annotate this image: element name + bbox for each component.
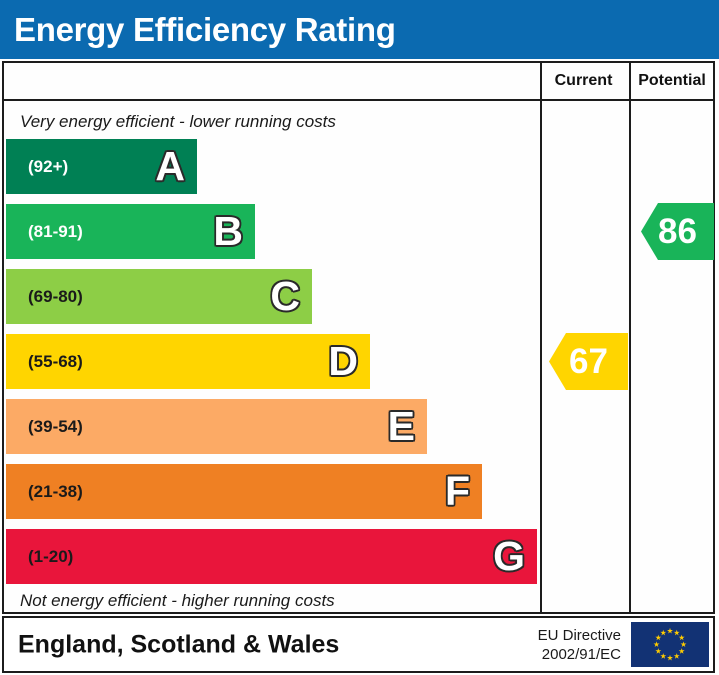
band-range-b: (81-91) (28, 222, 83, 242)
rating-marker-potential: 86 (641, 203, 714, 260)
column-header-current: Current (540, 63, 627, 99)
band-range-a: (92+) (28, 157, 68, 177)
band-range-d: (55-68) (28, 352, 83, 372)
title-bar: Energy Efficiency Rating (0, 0, 719, 59)
band-range-g: (1-20) (28, 547, 73, 567)
directive-line-2: 2002/91/EC (538, 645, 621, 664)
band-letter-f: F (445, 471, 470, 512)
band-letter-d: D (328, 341, 358, 382)
band-range-e: (39-54) (28, 417, 83, 437)
epc-chart: Energy Efficiency Rating Current Potenti… (0, 0, 719, 675)
column-divider-potential (629, 63, 631, 612)
rating-marker-current: 67 (549, 333, 628, 390)
footer-region-label: England, Scotland & Wales (18, 630, 339, 659)
band-bar-e: (39-54)E (6, 399, 427, 454)
band-bar-d: (55-68)D (6, 334, 370, 389)
band-bar-g: (1-20)G (6, 529, 537, 584)
band-bar-f: (21-38)F (6, 464, 482, 519)
band-chart-area: Very energy efficient - lower running co… (4, 101, 540, 612)
page-title: Energy Efficiency Rating (14, 11, 396, 49)
rating-table: Current Potential Very energy efficient … (2, 61, 715, 614)
footer-bar: England, Scotland & Wales EU Directive 2… (2, 616, 715, 673)
band-letter-a: A (155, 146, 185, 187)
band-range-c: (69-80) (28, 287, 83, 307)
band-letter-b: B (213, 211, 243, 252)
band-letter-g: G (493, 536, 525, 577)
band-bar-a: (92+)A (6, 139, 197, 194)
band-letter-e: E (388, 406, 415, 447)
band-letter-c: C (270, 276, 300, 317)
band-bar-c: (69-80)C (6, 269, 312, 324)
footer-directive: EU Directive 2002/91/EC (538, 625, 621, 663)
caption-efficient: Very energy efficient - lower running co… (20, 112, 336, 132)
column-divider-current (540, 63, 542, 612)
column-header-potential: Potential (629, 63, 715, 99)
directive-line-1: EU Directive (538, 625, 621, 644)
band-range-f: (21-38) (28, 482, 83, 502)
caption-inefficient: Not energy efficient - higher running co… (20, 591, 335, 611)
column-header-row: Current Potential (4, 63, 713, 101)
eu-flag-icon (631, 622, 709, 667)
band-bar-b: (81-91)B (6, 204, 255, 259)
